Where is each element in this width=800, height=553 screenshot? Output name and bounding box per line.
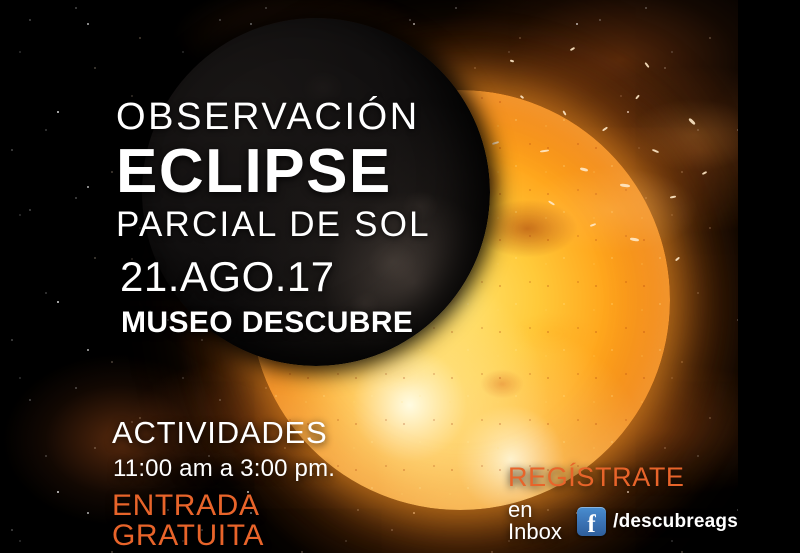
headline-observacion: OBSERVACIÓN — [116, 98, 536, 136]
social-row: en Inbox f /descubreags — [508, 499, 738, 543]
activities-hours: 11:00 am a 3:00 pm. — [113, 457, 412, 481]
headline-parcial-de-sol: PARCIAL DE SOL — [116, 207, 536, 242]
register-channel: en Inbox — [508, 499, 570, 543]
event-date: 21.AGO.17 — [120, 256, 536, 298]
right-black-bar — [738, 0, 800, 553]
activities-admission: ENTRADA GRATUITA — [112, 491, 412, 551]
event-venue: MUSEO DESCUBRE — [121, 308, 536, 338]
facebook-handle[interactable]: /descubreags — [613, 512, 738, 531]
register-block: REGÍSTRATE en Inbox f /descubreags — [508, 464, 738, 543]
register-title: REGÍSTRATE — [508, 464, 738, 491]
eclipse-poster: OBSERVACIÓN ECLIPSE PARCIAL DE SOL 21.AG… — [0, 0, 800, 553]
activities-title: ACTIVIDADES — [112, 417, 412, 448]
headline-block: OBSERVACIÓN ECLIPSE PARCIAL DE SOL 21.AG… — [116, 98, 536, 338]
headline-eclipse: ECLIPSE — [116, 140, 536, 203]
facebook-icon[interactable]: f — [577, 507, 606, 536]
facebook-f-glyph: f — [587, 512, 595, 537]
activities-block: ACTIVIDADES 11:00 am a 3:00 pm. ENTRADA … — [112, 417, 412, 551]
